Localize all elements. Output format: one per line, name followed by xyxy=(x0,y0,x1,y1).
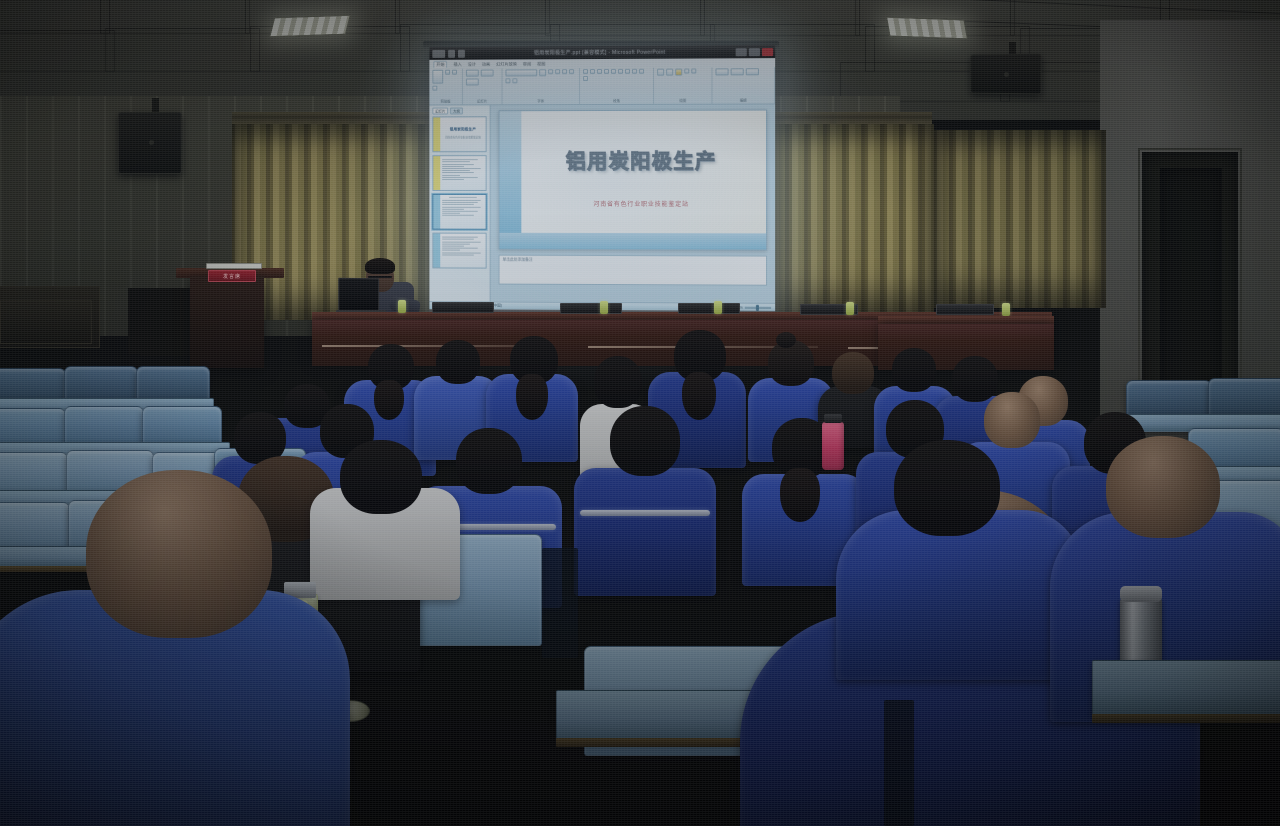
align-left-icon[interactable] xyxy=(618,69,623,74)
seat-empty[interactable] xyxy=(64,366,138,402)
person-head xyxy=(892,348,936,392)
stage-nameplate-1 xyxy=(432,302,494,313)
underline-icon[interactable] xyxy=(562,69,567,74)
slide-thumbnail-1[interactable]: 铝用炭阳极生产 河南省有色行业职业技能鉴定站 xyxy=(432,116,486,152)
slide-title: 铝用炭阳极生产 xyxy=(521,145,762,174)
zoom-slider-knob[interactable] xyxy=(756,304,759,310)
decrease-indent-icon[interactable] xyxy=(597,69,602,74)
person-hair-bun xyxy=(776,332,796,348)
numbering-icon[interactable] xyxy=(590,69,595,74)
select-icon[interactable] xyxy=(746,68,759,75)
ribbon-group-slides-label: 幻灯片 xyxy=(466,98,499,103)
reset-icon[interactable] xyxy=(466,79,479,86)
slide-thumbnail-panel[interactable]: 幻灯片 大纲 铝用炭阳极生产 河南省有色行业职业技能鉴定站 xyxy=(429,105,490,301)
person-head xyxy=(86,470,272,638)
projection-screen: 铝用炭阳极生产.ppt [兼容模式] - Microsoft PowerPoin… xyxy=(429,45,775,317)
find-icon[interactable] xyxy=(715,68,728,75)
slide-subtitle: 河南省有色行业职业技能鉴定站 xyxy=(521,199,762,208)
curtain-right xyxy=(770,124,934,314)
ribbon-group-paragraph: 段落 xyxy=(580,68,654,104)
ribbon-tab-design[interactable]: 设计 xyxy=(468,61,476,67)
presenter-hair xyxy=(365,258,395,274)
justify-icon[interactable] xyxy=(639,69,644,74)
thermos-cap xyxy=(1120,586,1162,602)
ribbon-group-editing: 编辑 xyxy=(712,67,775,103)
ppt-title-bar: 铝用炭阳极生产.ppt [兼容模式] - Microsoft PowerPoin… xyxy=(429,45,775,60)
stage-nameplate-3 xyxy=(678,303,740,314)
stage-teacup-4 xyxy=(846,302,854,315)
ribbon-group-drawing-label: 绘图 xyxy=(657,98,708,103)
person-head xyxy=(894,440,1000,536)
ribbon-group-editing-label: 编辑 xyxy=(715,97,771,102)
slide-thumbnail-3[interactable] xyxy=(432,194,486,230)
person-ponytail xyxy=(682,372,716,420)
ribbon-group-clipboard: 剪贴板 xyxy=(429,69,463,105)
ribbon-group-clipboard-label: 剪贴板 xyxy=(432,99,459,104)
seat-empty[interactable] xyxy=(0,502,70,552)
person-ponytail xyxy=(516,374,548,420)
save-icon[interactable] xyxy=(448,49,455,57)
shadow-icon[interactable] xyxy=(569,69,574,74)
close-button[interactable] xyxy=(762,48,773,56)
shapes-icon[interactable] xyxy=(657,69,664,76)
ribbon-tab-slideshow[interactable]: 幻灯片放映 xyxy=(496,61,517,67)
columns-icon[interactable] xyxy=(583,76,588,81)
layout-icon[interactable] xyxy=(481,70,494,77)
desk-front-right xyxy=(1092,660,1280,718)
slide-canvas[interactable]: 铝用炭阳极生产 河南省有色行业职业技能鉴定站 单击此处添加备注 xyxy=(491,104,776,302)
reflective-stripe xyxy=(580,510,710,516)
ppt-ribbon: 开始 插入 设计 动画 幻灯片放映 审阅 视图 剪贴板 xyxy=(429,58,775,105)
wall-speaker-right xyxy=(970,53,1041,94)
person-head xyxy=(456,428,522,494)
side-cabinet xyxy=(0,300,92,344)
zoom-control[interactable]: 66% xyxy=(735,305,771,309)
ceiling-light-1 xyxy=(269,15,351,38)
stage-teacup-1 xyxy=(398,300,406,313)
water-bottle-pink[interactable] xyxy=(822,422,844,470)
arrange-icon[interactable] xyxy=(666,69,673,76)
increase-indent-icon[interactable] xyxy=(604,69,609,74)
door-panel-dark xyxy=(1160,168,1222,408)
align-right-icon[interactable] xyxy=(632,69,637,74)
tab-slides[interactable]: 幻灯片 xyxy=(432,107,448,114)
font-color-icon[interactable] xyxy=(512,78,517,83)
seat-empty[interactable] xyxy=(1208,378,1280,418)
current-slide[interactable]: 铝用炭阳极生产 河南省有色行业职业技能鉴定站 xyxy=(499,109,768,250)
bottle-cap xyxy=(824,414,842,423)
person-ponytail xyxy=(780,468,820,522)
presenter-laptop-screen xyxy=(338,278,379,313)
cut-icon[interactable] xyxy=(445,70,450,75)
ppt-window-title: 铝用炭阳极生产.ppt [兼容模式] - Microsoft PowerPoin… xyxy=(465,48,736,56)
podium-sign-text: 发言席 xyxy=(223,273,241,280)
align-center-icon[interactable] xyxy=(625,69,630,74)
person-body xyxy=(574,468,716,596)
ribbon-groups: 剪贴板 幻灯片 xyxy=(429,67,775,104)
office-button-icon[interactable] xyxy=(432,49,445,57)
line-spacing-icon[interactable] xyxy=(611,69,616,74)
format-painter-icon[interactable] xyxy=(432,86,437,91)
font-size-select[interactable] xyxy=(539,69,546,76)
person-ponytail xyxy=(374,380,404,420)
ribbon-group-drawing: 绘图 xyxy=(654,67,712,103)
seat-empty[interactable] xyxy=(142,406,222,446)
undo-icon[interactable] xyxy=(458,49,465,57)
quick-styles-icon[interactable] xyxy=(675,69,682,76)
italic-icon[interactable] xyxy=(555,69,560,74)
copy-icon[interactable] xyxy=(452,70,457,75)
stage-nameplate-2 xyxy=(560,303,622,314)
person-head xyxy=(952,356,998,402)
bullets-icon[interactable] xyxy=(583,69,588,74)
seat-empty[interactable] xyxy=(64,406,144,446)
thumb-1-subtitle: 河南省有色行业职业技能鉴定站 xyxy=(442,135,483,139)
paste-icon[interactable] xyxy=(432,70,443,84)
stage-teacup-5 xyxy=(1002,303,1010,316)
font-family-select[interactable] xyxy=(505,69,537,76)
person-head xyxy=(594,356,642,408)
strikethrough-icon[interactable] xyxy=(505,78,510,83)
ribbon-group-font: 字体 xyxy=(502,68,580,104)
ribbon-tab-insert[interactable]: 插入 xyxy=(453,61,461,67)
lecture-hall-scene: 铝用炭阳极生产.ppt [兼容模式] - Microsoft PowerPoin… xyxy=(0,0,1280,826)
wall-speaker-left xyxy=(118,112,182,174)
curtain-far-right xyxy=(934,130,1106,308)
person-head xyxy=(832,352,874,394)
person-head xyxy=(340,440,422,514)
ribbon-tab-animations[interactable]: 动画 xyxy=(482,61,490,67)
stage-teacup-2 xyxy=(600,301,608,314)
maximize-button[interactable] xyxy=(749,48,760,56)
replace-icon[interactable] xyxy=(731,68,744,75)
podium[interactable] xyxy=(190,276,264,368)
person-head xyxy=(610,406,680,476)
person-head xyxy=(1106,436,1220,538)
person-head xyxy=(984,392,1040,448)
stage-nameplate-5 xyxy=(936,304,994,315)
thumb-1-title: 铝用炭阳极生产 xyxy=(442,127,483,132)
slide-thumbnail-4[interactable] xyxy=(432,233,486,269)
ribbon-group-paragraph-label: 段落 xyxy=(583,98,650,103)
podium-label-card xyxy=(206,263,262,269)
person-head xyxy=(436,340,480,384)
slide-thumbnail-2[interactable] xyxy=(432,155,486,191)
shape-fill-icon[interactable] xyxy=(684,69,689,74)
av-rack xyxy=(140,292,190,356)
ribbon-tab-view[interactable]: 视图 xyxy=(537,61,545,67)
ppt-work-area: 幻灯片 大纲 铝用炭阳极生产 河南省有色行业职业技能鉴定站 xyxy=(429,104,775,302)
ribbon-group-font-label: 字体 xyxy=(505,98,576,103)
notes-placeholder: 单击此处添加备注 xyxy=(502,258,763,264)
stage-teacup-3 xyxy=(714,301,722,314)
notes-pane[interactable]: 单击此处添加备注 xyxy=(499,255,768,286)
bold-icon[interactable] xyxy=(548,69,553,74)
ribbon-group-slides: 幻灯片 xyxy=(463,68,503,104)
minimize-button[interactable] xyxy=(736,48,747,56)
ribbon-tab-review[interactable]: 审阅 xyxy=(523,61,531,67)
seat-empty[interactable] xyxy=(136,366,210,402)
podium-sign: 发言席 xyxy=(208,270,256,282)
tab-outline[interactable]: 大纲 xyxy=(450,107,463,114)
shape-outline-icon[interactable] xyxy=(691,69,696,74)
ceiling-light-2 xyxy=(886,17,968,40)
new-slide-icon[interactable] xyxy=(466,70,479,77)
ribbon-tab-home[interactable]: 开始 xyxy=(433,61,447,68)
